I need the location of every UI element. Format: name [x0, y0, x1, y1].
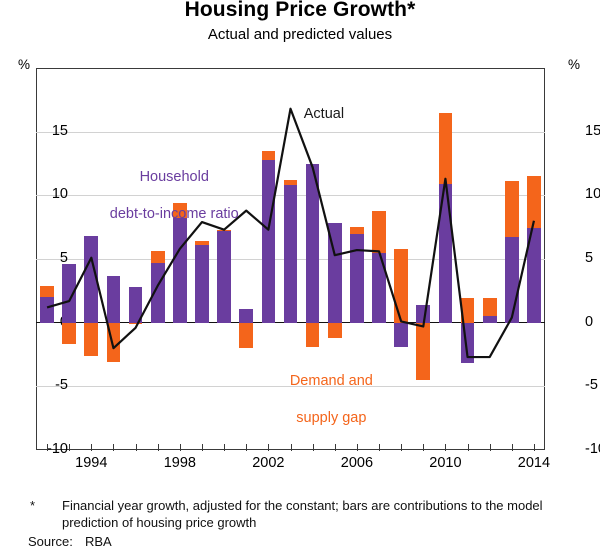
x-axis-label-1998: 1998 — [164, 455, 196, 471]
footnote-text: Financial year growth, adjusted for the … — [62, 497, 582, 531]
annotation-demand-supply-gap-line2: supply gap — [296, 410, 366, 426]
y-axis-unit-right: % — [568, 57, 580, 72]
page-subtitle: Actual and predicted values — [0, 26, 600, 43]
annotation-household-debt-line1: Household — [140, 169, 209, 185]
source-label: Source: — [28, 533, 73, 550]
page-title: Housing Price Growth* — [0, 0, 600, 22]
y-tick-label-r-15: 15 — [585, 124, 600, 139]
y-tick-label-r--5: -5 — [585, 378, 598, 393]
x-axis-label-2002: 2002 — [252, 455, 284, 471]
chart-page: Housing Price Growth* Actual and predict… — [0, 0, 600, 552]
y-tick-label-r-5: 5 — [585, 251, 593, 266]
source-value: RBA — [85, 533, 112, 550]
footnote-marker: * — [30, 497, 35, 514]
plot-area: 151510105500-5-5-10-10 Household debt-to… — [36, 68, 545, 450]
annotation-demand-supply-gap-line1: Demand and — [290, 373, 373, 389]
x-axis-label-2014: 2014 — [518, 455, 550, 471]
annotation-demand-supply-gap: Demand and supply gap — [214, 353, 424, 446]
y-tick-label-r--10: -10 — [585, 442, 600, 457]
y-tick-label-r-0: 0 — [585, 315, 593, 330]
x-axis-label-1994: 1994 — [75, 455, 107, 471]
y-tick-label-r-10: 10 — [585, 187, 600, 202]
x-axis-label-2006: 2006 — [341, 455, 373, 471]
x-axis-label-2010: 2010 — [429, 455, 461, 471]
annotation-actual: Actual — [304, 105, 344, 124]
y-axis-unit-left: % — [18, 57, 30, 72]
annotation-household-debt: Household debt-to-income ratio — [52, 149, 272, 242]
annotation-household-debt-line2: debt-to-income ratio — [110, 206, 239, 222]
